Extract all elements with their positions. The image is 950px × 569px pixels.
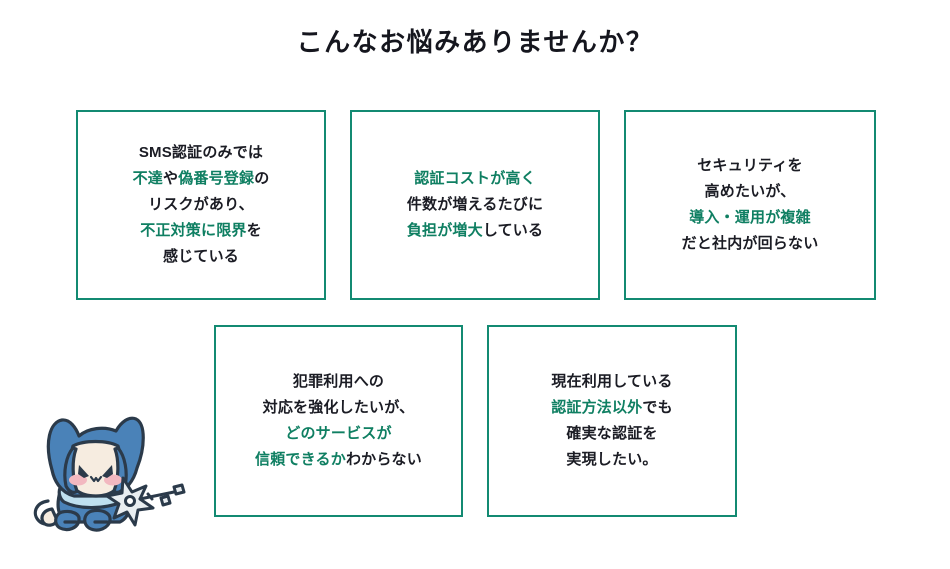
highlighted-text: 導入・運用が複雑 — [689, 209, 811, 226]
card-line: 負担が増大している — [407, 218, 543, 244]
highlighted-text: 信頼できるか — [255, 451, 346, 468]
body-text: だと社内が回らない — [682, 235, 819, 252]
mascot-leg-right — [85, 510, 110, 530]
body-text: 犯罪利用への — [293, 373, 384, 390]
pain-point-card-3: セキュリティを高めたいが、導入・運用が複雑だと社内が回らない — [624, 110, 876, 300]
body-text: 高めたいが、 — [705, 183, 796, 200]
body-text: でも — [642, 399, 672, 416]
card-line: 高めたいが、 — [682, 179, 819, 205]
card-line: 感じている — [133, 244, 270, 270]
pain-point-card-2: 認証コストが高く件数が増えるたびに負担が増大している — [350, 110, 600, 300]
card-line: 不達や偽番号登録の — [133, 166, 270, 192]
card-line: どのサービスが — [255, 421, 422, 447]
highlighted-text: 認証方法以外 — [551, 399, 642, 416]
card-line: 不正対策に限界を — [133, 218, 270, 244]
body-text: リスクがあり、 — [148, 196, 254, 213]
body-text: 対応を強化したいが、 — [263, 399, 415, 416]
body-text: SMS認証のみでは — [139, 144, 263, 161]
pain-point-card-5: 現在利用している認証方法以外でも確実な認証を実現したい。 — [487, 325, 737, 517]
card-text: 現在利用している認証方法以外でも確実な認証を実現したい。 — [543, 369, 681, 473]
card-line: SMS認証のみでは — [133, 140, 270, 166]
body-text: 実現したい。 — [566, 451, 657, 468]
card-line: 現在利用している — [551, 369, 673, 395]
card-line: 認証方法以外でも — [551, 395, 673, 421]
highlighted-text: 不達 — [133, 170, 163, 187]
mascot-key-tooth-2 — [161, 496, 170, 505]
highlighted-text: 偽番号登録 — [178, 170, 254, 187]
page-title: こんなお悩みありませんか？ — [0, 22, 950, 59]
card-line: 導入・運用が複雑 — [682, 205, 819, 231]
body-text: 確実な認証を — [566, 425, 657, 442]
card-text: 犯罪利用への対応を強化したいが、どのサービスが信頼できるかわからない — [247, 369, 430, 473]
mascot-shuriken-hole — [126, 497, 135, 506]
ninja-cat-mascot — [22, 404, 187, 564]
card-line: だと社内が回らない — [682, 231, 819, 257]
body-text: の — [254, 170, 269, 187]
card-line: 確実な認証を — [551, 421, 673, 447]
card-line: 対応を強化したいが、 — [255, 395, 422, 421]
card-text: セキュリティを高めたいが、導入・運用が複雑だと社内が回らない — [674, 153, 827, 257]
card-line: 件数が増えるたびに — [407, 192, 543, 218]
card-line: 犯罪利用への — [255, 369, 422, 395]
card-line: 実現したい。 — [551, 447, 673, 473]
pain-point-card-1: SMS認証のみでは不達や偽番号登録のリスクがあり、不正対策に限界を感じている — [76, 110, 326, 300]
highlighted-text: 負担が増大 — [407, 222, 483, 239]
highlighted-text: どのサービスが — [285, 425, 391, 442]
card-text: 認証コストが高く件数が増えるたびに負担が増大している — [399, 166, 551, 244]
highlighted-text: 認証コストが高く — [414, 170, 536, 187]
body-text: わからない — [346, 451, 422, 468]
card-line: 信頼できるかわからない — [255, 447, 422, 473]
pain-point-card-4: 犯罪利用への対応を強化したいが、どのサービスが信頼できるかわからない — [214, 325, 463, 517]
card-line: セキュリティを — [682, 153, 819, 179]
card-line: 認証コストが高く — [407, 166, 543, 192]
body-text: を — [247, 222, 262, 239]
highlighted-text: 不正対策に限界 — [140, 222, 246, 239]
body-text: 現在利用している — [551, 373, 672, 390]
body-text: や — [163, 170, 178, 187]
body-text: 件数が増えるたびに — [407, 196, 543, 213]
card-text: SMS認証のみでは不達や偽番号登録のリスクがあり、不正対策に限界を感じている — [125, 140, 278, 270]
card-line: リスクがあり、 — [133, 192, 270, 218]
body-text: している — [483, 222, 543, 239]
body-text: 感じている — [163, 248, 239, 265]
mascot-key-tooth-1 — [174, 485, 184, 494]
body-text: セキュリティを — [697, 157, 803, 174]
